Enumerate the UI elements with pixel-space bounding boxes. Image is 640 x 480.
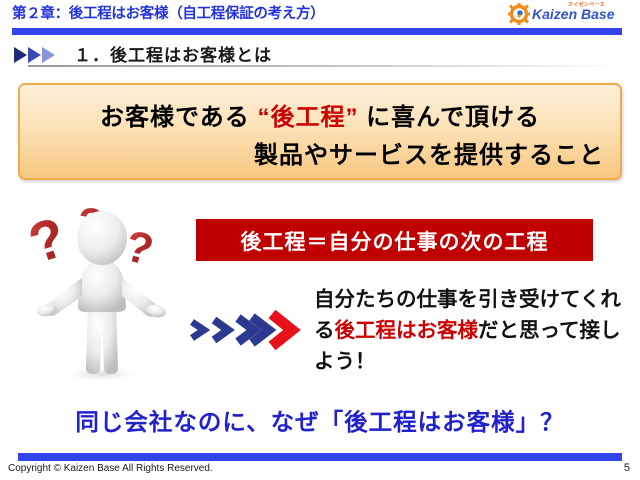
message-part-3: だ	[478, 319, 499, 342]
svg-text:?: ?	[120, 221, 158, 275]
statement-line1-pre: お客様である	[100, 104, 257, 131]
statement-quote-open: “	[257, 104, 270, 131]
statement-line-1: お客様である “後工程” に喜んで頂ける	[20, 97, 620, 132]
question-mark-right: ?	[120, 221, 158, 275]
gear-icon	[508, 3, 530, 25]
message-part-1: 自分たちの仕事を引き受け	[314, 288, 560, 311]
puzzled-3d-person-icon: ? ? ?	[22, 198, 188, 388]
message-block: 自分たちの仕事を引き受けてくれる後工程はお客様だと思って接しよう！	[314, 284, 634, 377]
brand-logo: カイゼンベース Kaizen Base	[508, 1, 630, 27]
section-underline	[28, 65, 622, 67]
statement-line-2: 製品やサービスを提供すること	[20, 135, 620, 170]
footer-divider-bar	[18, 453, 622, 461]
triple-arrow-icon	[14, 46, 66, 64]
definition-text: 後工程＝自分の仕事の次の工程	[196, 226, 593, 256]
statement-quote-close: ”	[345, 104, 358, 131]
closing-question: 同じ会社なのに、なぜ「後工程はお客様」？	[0, 403, 640, 437]
svg-text:?: ?	[22, 205, 73, 275]
message-emph-term: 後工程はお客様	[335, 319, 479, 342]
page-number: 5	[624, 462, 630, 474]
slide-header: 第２章：後工程はお客様（自工程保証の考え方）	[0, 0, 640, 40]
brand-wordmark: Kaizen Base	[532, 6, 614, 22]
definition-banner: 後工程＝自分の仕事の次の工程	[196, 219, 593, 261]
header-divider-bar	[12, 28, 622, 35]
statement-emph-term: 後工程	[270, 104, 345, 131]
section-label: １．後工程はお客様とは	[74, 41, 272, 66]
chevron-sequence-icon	[188, 306, 310, 354]
question-mark-left: ?	[22, 205, 73, 275]
chapter-title: 第２章：後工程はお客様（自工程保証の考え方）	[12, 2, 324, 23]
statement-box: お客様である “後工程” に喜んで頂ける 製品やサービスを提供すること	[18, 83, 622, 180]
statement-line1-post: に喜んで頂ける	[358, 104, 539, 131]
copyright-text: Copyright © Kaizen Base All Rights Reser…	[8, 463, 213, 474]
